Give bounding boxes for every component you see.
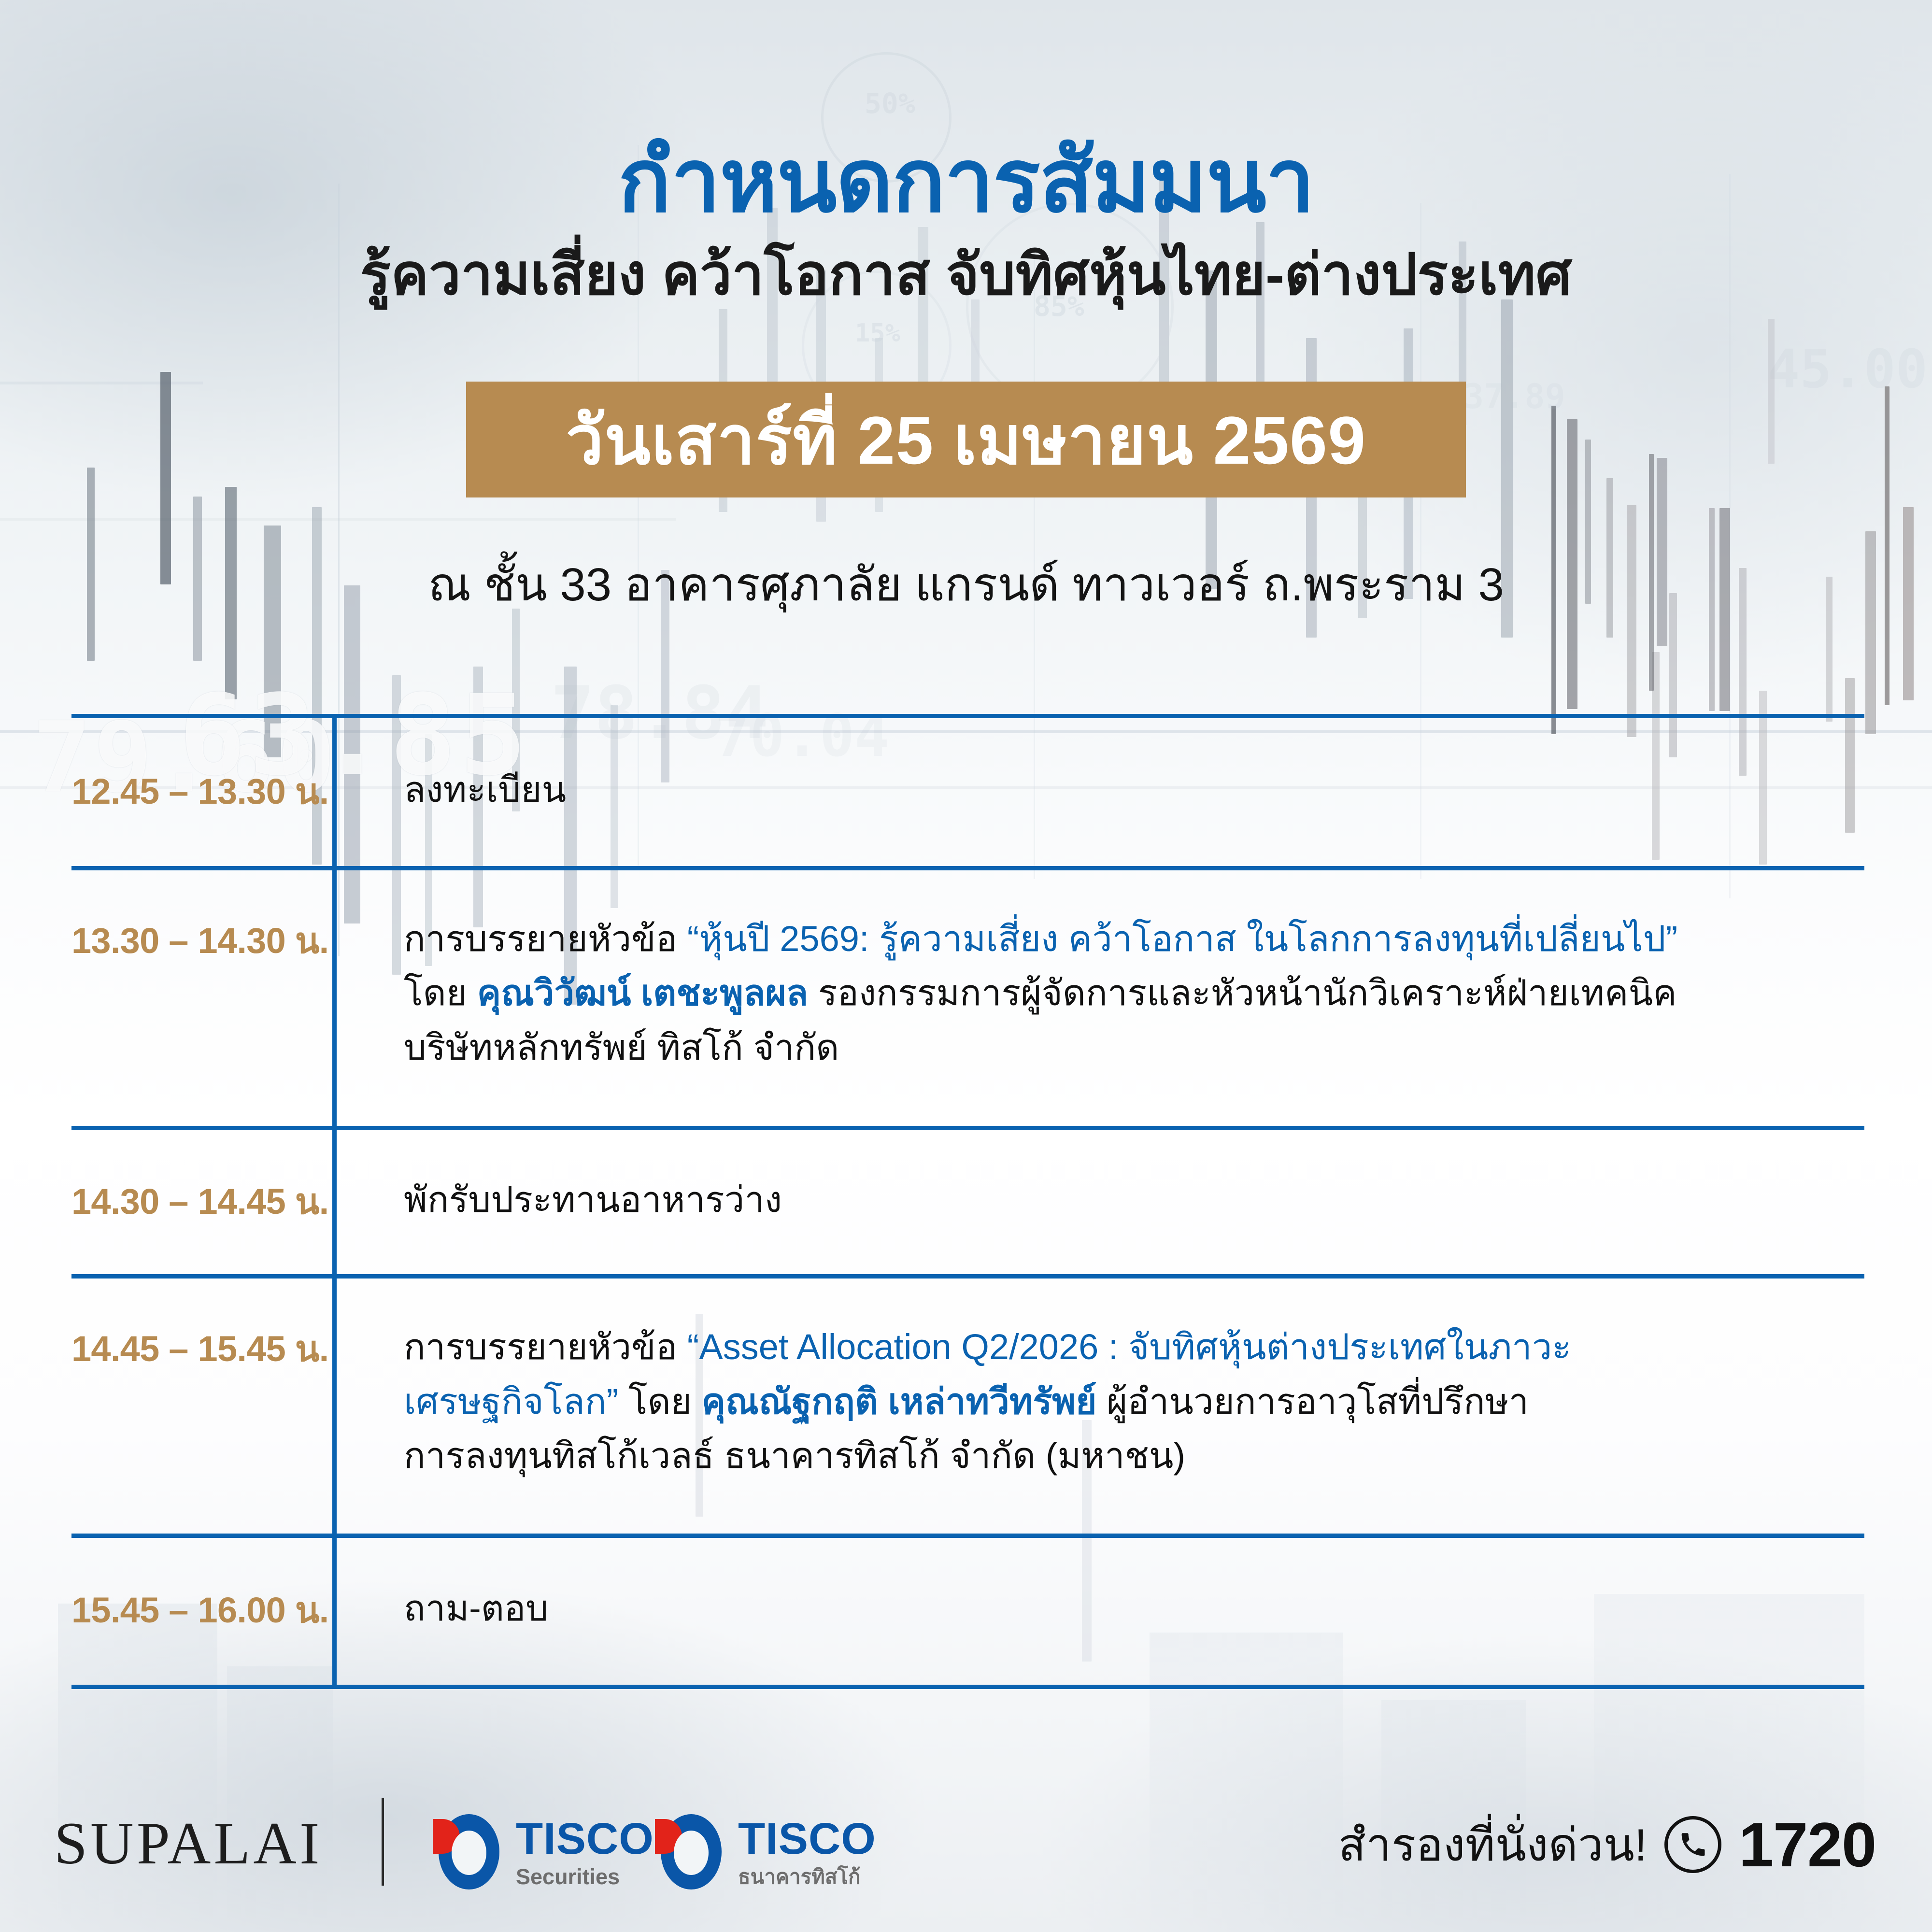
- agenda-time: 13.30 – 14.30 น.: [71, 912, 342, 969]
- agenda-divider: [71, 1685, 1864, 1689]
- agenda-description: ถาม-ตอบ: [342, 1581, 1864, 1635]
- agenda-divider: [71, 714, 1864, 718]
- agenda-text-segment: โดย: [618, 1381, 701, 1421]
- agenda-description-line: การบรรยายหัวข้อ “Asset Allocation Q2/202…: [404, 1320, 1864, 1374]
- agenda-text-segment: เศรษฐกิจโลก”: [404, 1381, 618, 1421]
- agenda-text-segment: คุณวิวัฒน์ เตชะพูลผล: [477, 973, 808, 1013]
- agenda-text-segment: การบรรยายหัวข้อ: [404, 919, 687, 959]
- tisco-bank-logo: TISCO ธนาคารทิสโก้: [661, 1814, 876, 1889]
- agenda-description-line: บริษัทหลักทรัพย์ ทิสโก้ จำกัด: [404, 1021, 1864, 1075]
- page-subtitle: รู้ความเสี่ยง คว้าโอกาส จับทิศหุ้นไทย-ต่…: [0, 242, 1932, 308]
- candlestick-bar: [1627, 505, 1636, 737]
- tisco-securities-logo: TISCO Securities: [439, 1814, 654, 1889]
- tisco-bank-name: TISCO: [738, 1817, 876, 1861]
- date-banner: วันเสาร์ที่ 25 เมษายน 2569: [466, 382, 1466, 497]
- background-price-label: 37.89: [1463, 377, 1565, 416]
- agenda-description-line: โดย คุณวิวัฒน์ เตชะพูลผล รองกรรมการผู้จั…: [404, 966, 1864, 1020]
- reserve-text: สำรองที่นั่งด่วน!: [1338, 1809, 1647, 1881]
- agenda-text-segment: รองกรรมการผู้จัดการและหัวหน้านักวิเคราะห…: [808, 973, 1676, 1013]
- agenda-description: การบรรยายหัวข้อ “Asset Allocation Q2/202…: [342, 1320, 1864, 1483]
- table-row: 12.45 – 13.30 น.ลงทะเบียน: [71, 718, 1864, 866]
- footer-divider: [382, 1798, 384, 1886]
- tisco-ring-icon: [661, 1814, 722, 1889]
- agenda-divider: [71, 1274, 1864, 1279]
- agenda-text-segment: พักรับประทานอาหารว่าง: [404, 1179, 782, 1220]
- agenda-text-segment: ถาม-ตอบ: [404, 1588, 548, 1628]
- grid-line: [0, 382, 203, 384]
- agenda-description: ลงทะเบียน: [342, 763, 1864, 817]
- agenda-text-segment: คุณณัฐกฤติ เหล่าทวีทรัพย์: [702, 1381, 1097, 1421]
- agenda-text-segment: “หุ้นปี 2569: รู้ความเสี่ยง คว้าโอกาส ใน…: [687, 919, 1678, 959]
- supalai-logo-text: SUPALAI: [54, 1810, 323, 1876]
- agenda-description-line: พักรับประทานอาหารว่าง: [404, 1173, 1864, 1227]
- tisco-bank-tagline: ธนาคารทิสโก้: [738, 1867, 876, 1887]
- agenda-text-segment: “Asset Allocation Q2/2026 : จับทิศหุ้นต่…: [687, 1327, 1571, 1367]
- agenda-divider: [71, 1534, 1864, 1538]
- agenda-description-line: การลงทุนทิสโก้เวลธ์ ธนาคารทิสโก้ จำกัด (…: [404, 1429, 1864, 1483]
- poster-footer: SUPALAI TISCO Securities TISCO ธนาคารท: [0, 1787, 1932, 1932]
- supalai-logo: SUPALAI: [54, 1809, 323, 1878]
- agenda-description-line: การบรรยายหัวข้อ “หุ้นปี 2569: รู้ความเสี…: [404, 912, 1864, 966]
- agenda-text-segment: การบรรยายหัวข้อ: [404, 1327, 687, 1367]
- candlestick-bar: [1885, 386, 1889, 705]
- venue-text: ณ ชั้น 33 อาคารศุภาลัย แกรนด์ ทาวเวอร์ ถ…: [0, 548, 1932, 621]
- background-price-label: 45.00: [1768, 338, 1928, 400]
- background-percent-label: 15%: [855, 319, 900, 348]
- date-banner-text: วันเสาร์ที่ 25 เมษายน 2569: [566, 386, 1366, 494]
- phone-icon: [1664, 1816, 1721, 1873]
- agenda-text-segment: บริษัทหลักทรัพย์ ทิสโก้ จำกัด: [404, 1027, 839, 1067]
- page-title: กำหนดการสัมมนา: [0, 136, 1932, 226]
- tisco-securities-tagline: Securities: [516, 1866, 654, 1888]
- agenda-description: การบรรยายหัวข้อ “หุ้นปี 2569: รู้ความเสี…: [342, 912, 1864, 1075]
- seminar-poster: 79.60 63.85 78.84 70.04 45.00 37.89 48.5…: [0, 0, 1932, 1932]
- agenda-text-segment: ลงทะเบียน: [404, 769, 566, 810]
- agenda-text-segment: ผู้อำนวยการอาวุโสที่ปรึกษา: [1096, 1381, 1529, 1421]
- agenda-description-line: ถาม-ตอบ: [404, 1581, 1864, 1635]
- agenda-time: 14.30 – 14.45 น.: [71, 1173, 342, 1230]
- agenda-divider: [71, 866, 1864, 870]
- table-row: 14.30 – 14.45 น.พักรับประทานอาหารว่าง: [71, 1130, 1864, 1274]
- table-row: 15.45 – 16.00 น.ถาม-ตอบ: [71, 1538, 1864, 1685]
- grid-line: [0, 518, 676, 521]
- tisco-securities-name: TISCO: [516, 1817, 654, 1861]
- table-row: 14.45 – 15.45 น.การบรรยายหัวข้อ “Asset A…: [71, 1279, 1864, 1533]
- agenda-time: 14.45 – 15.45 น.: [71, 1320, 342, 1377]
- agenda-description: พักรับประทานอาหารว่าง: [342, 1173, 1864, 1227]
- agenda-time: 12.45 – 13.30 น.: [71, 763, 342, 820]
- agenda-text-segment: การลงทุนทิสโก้เวลธ์ ธนาคารทิสโก้ จำกัด (…: [404, 1435, 1185, 1476]
- agenda-table: 12.45 – 13.30 น.ลงทะเบียน13.30 – 14.30 น…: [71, 714, 1864, 1689]
- reservation-cta[interactable]: สำรองที่นั่งด่วน! 1720: [1338, 1808, 1876, 1881]
- poster-header: กำหนดการสัมมนา รู้ความเสี่ยง คว้าโอกาส จ…: [0, 0, 1932, 308]
- table-row: 13.30 – 14.30 น.การบรรยายหัวข้อ “หุ้นปี …: [71, 870, 1864, 1126]
- agenda-divider: [71, 1126, 1864, 1130]
- tisco-ring-icon: [439, 1814, 499, 1889]
- phone-number[interactable]: 1720: [1739, 1808, 1876, 1881]
- agenda-description-line: ลงทะเบียน: [404, 763, 1864, 817]
- candlestick-bar: [1768, 319, 1775, 464]
- agenda-time: 15.45 – 16.00 น.: [71, 1581, 342, 1638]
- agenda-description-line: เศรษฐกิจโลก” โดย คุณณัฐกฤติ เหล่าทวีทรัพ…: [404, 1375, 1864, 1429]
- agenda-text-segment: โดย: [404, 973, 477, 1013]
